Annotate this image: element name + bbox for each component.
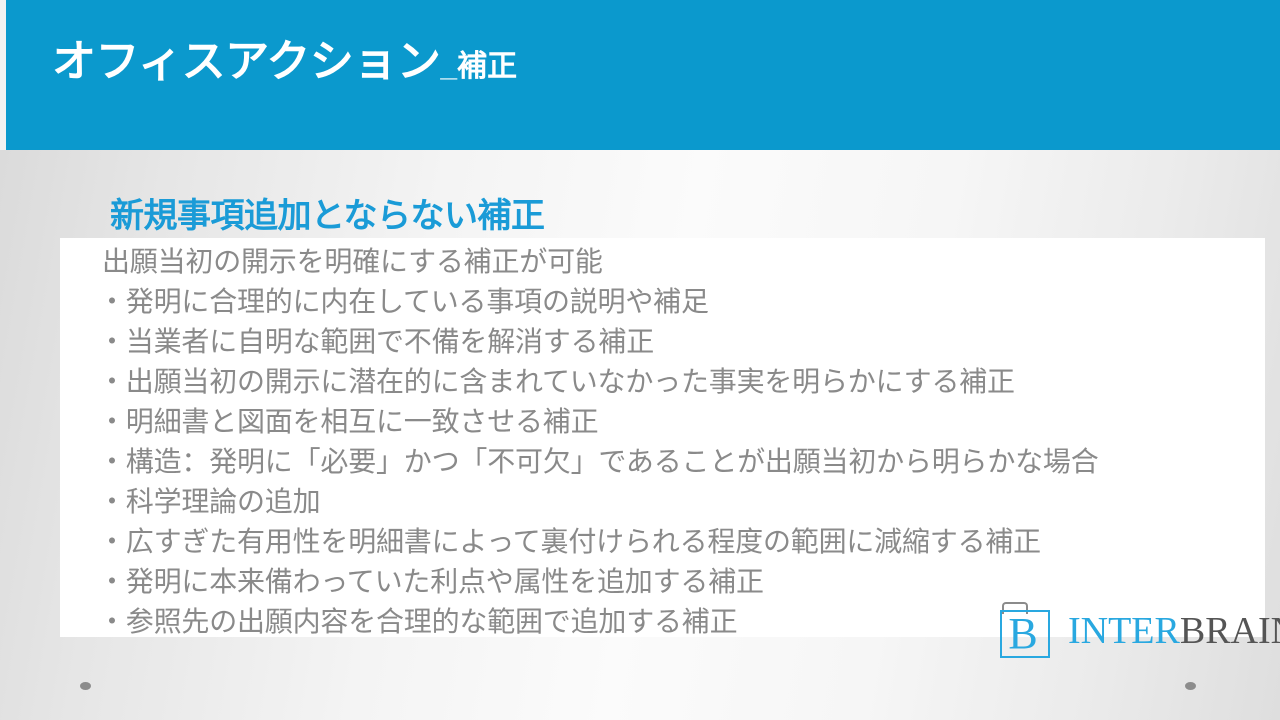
footer-dot-right xyxy=(1185,682,1196,690)
content-bullet: ・構造：発明に「必要」かつ「不可欠」であることが出願当初から明らかな場合 xyxy=(98,442,1258,482)
interbrain-logo-mark-icon: B xyxy=(998,602,1054,660)
content-lead-line: 出願当初の開示を明確にする補正が可能 xyxy=(98,242,1258,282)
content-bullet: ・出願当初の開示に潜在的に含まれていなかった事実を明らかにする補正 xyxy=(98,362,1258,402)
content-bullet: ・発明に本来備わっていた利点や属性を追加する補正 xyxy=(98,562,1258,602)
content-bullet: ・当業者に自明な範囲で不備を解消する補正 xyxy=(98,322,1258,362)
section-heading: 新規事項追加とならない補正 xyxy=(110,188,544,237)
slide-canvas: オフィスアクション_補正 新規事項追加とならない補正 出願当初の開示を明確にする… xyxy=(0,0,1280,720)
content-bullet: ・広すぎた有用性を明細書によって裏付けられる程度の範囲に減縮する補正 xyxy=(98,522,1258,562)
content-bullet: ・発明に合理的に内在している事項の説明や補足 xyxy=(98,282,1258,322)
content-panel: 出願当初の開示を明確にする補正が可能 ・発明に合理的に内在している事項の説明や補… xyxy=(60,238,1265,637)
header-band: オフィスアクション_補正 xyxy=(0,0,1280,150)
logo-letter-b: B xyxy=(998,610,1048,658)
page-title: オフィスアクション_補正 xyxy=(52,38,517,86)
content-bullet: ・科学理論の追加 xyxy=(98,482,1258,522)
page-title-suffix: _補正 xyxy=(440,50,517,83)
logo-word-brain: BRAIN xyxy=(1180,610,1280,652)
header-left-edge-accent xyxy=(0,0,6,150)
footer-dot-left xyxy=(80,682,91,690)
content-list: 出願当初の開示を明確にする補正が可能 ・発明に合理的に内在している事項の説明や補… xyxy=(98,242,1258,642)
interbrain-logo: B INTERBRAIN xyxy=(998,602,1280,660)
interbrain-logo-wordmark: INTERBRAIN xyxy=(1068,609,1280,653)
page-title-main: オフィスアクション xyxy=(52,37,440,86)
content-bullet: ・明細書と図面を相互に一致させる補正 xyxy=(98,402,1258,442)
logo-word-inter: INTER xyxy=(1068,610,1180,652)
